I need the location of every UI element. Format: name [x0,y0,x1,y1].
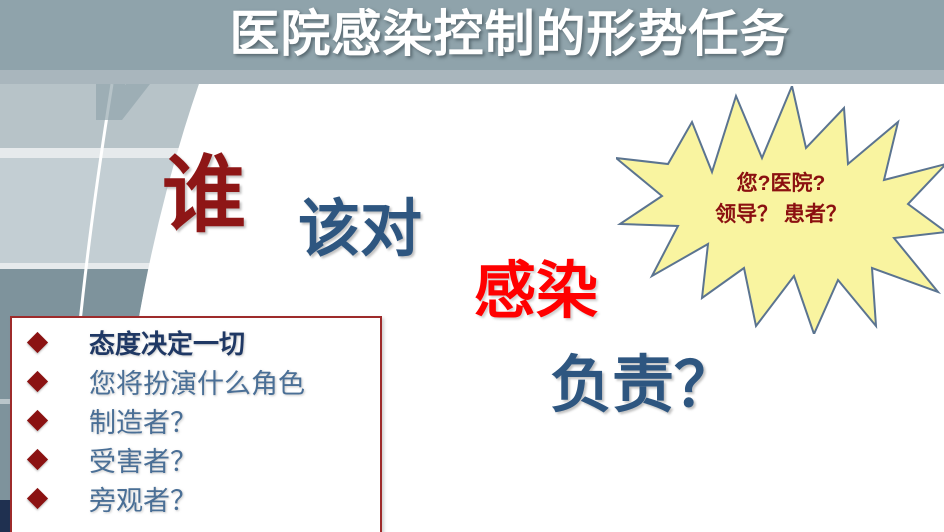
word-responsible: 负责？ [550,334,736,424]
diamond-bullet-icon [27,449,48,470]
list-item-label: 制造者？ [89,401,197,440]
list-item: 旁观者？ [12,479,380,518]
list-item-label: 旁观者？ [89,479,197,518]
starburst-callout: 您?医院? 领导？ 患者？ [616,86,944,334]
list-item-label: 您将扮演什么角色 [89,362,305,401]
list-item: 您将扮演什么角色 [12,362,380,401]
slide-canvas: 医院感染控制的形势任务 谁 该对 感染 负责？ 您?医院? 领导？ 患者？ 态度… [0,0,944,532]
diamond-bullet-icon [27,410,48,431]
list-item: 制造者？ [12,401,380,440]
starburst-text: 您?医院? 领导？ 患者？ [616,168,944,230]
list-item: 受害者？ [12,440,380,479]
starburst-line-2: 领导？ 患者？ [616,199,944,230]
list-item-label: 受害者？ [89,440,197,479]
word-infection: 感染 [474,240,598,330]
title-underbar [0,70,944,84]
word-should-be: 该对 [298,178,422,268]
list-item-label: 态度决定一切 [89,324,245,361]
word-who: 谁 [162,128,246,249]
diamond-bullet-icon [27,371,48,392]
starburst-line-1: 您?医院? [616,168,944,199]
diamond-bullet-icon [27,332,48,353]
diamond-bullet-icon [27,488,48,509]
list-item: 态度决定一切 [12,323,380,362]
page-title: 医院感染控制的形势任务 [140,0,880,70]
attitude-bullet-box: 态度决定一切 您将扮演什么角色 制造者？ 受害者？ 旁观者？ [10,316,382,532]
